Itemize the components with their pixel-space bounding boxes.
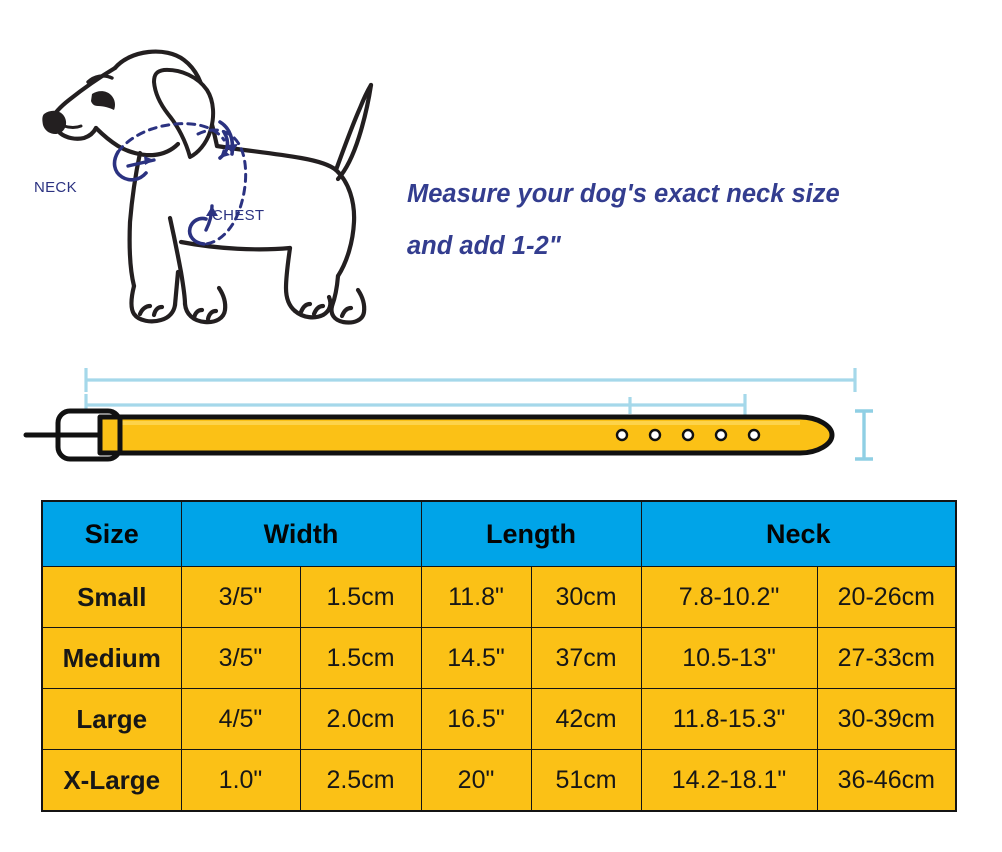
- dog-measurement-diagram: NECK CHEST: [18, 22, 408, 332]
- width-measure-bracket: [855, 411, 873, 459]
- cell-neck-in: 11.8-15.3": [641, 689, 817, 750]
- cell-neck-cm: 36-46cm: [817, 750, 956, 812]
- cell-size: Medium: [42, 628, 181, 689]
- neck-measure-line: [86, 394, 745, 417]
- cell-width-in: 3/5": [181, 567, 300, 628]
- cell-size: Large: [42, 689, 181, 750]
- cell-length-cm: 37cm: [531, 628, 641, 689]
- cell-length-in: 20": [421, 750, 531, 812]
- collar-measurement-diagram: Length Neck Width: [0, 355, 1002, 480]
- cell-length-in: 14.5": [421, 628, 531, 689]
- table-header-row: Size Width Length Neck: [42, 501, 956, 567]
- measure-instruction-text: Measure your dog's exact neck size and a…: [407, 168, 967, 272]
- collar-hole: [650, 430, 660, 440]
- neck-arrow-head-icon: [144, 156, 154, 165]
- size-chart-table: Size Width Length Neck Small 3/5" 1.5cm …: [41, 500, 957, 812]
- neck-label: NECK: [34, 179, 77, 196]
- instruction-line-2: and add 1-2": [407, 220, 967, 272]
- chest-label: CHEST: [212, 207, 264, 224]
- cell-neck-in: 10.5-13": [641, 628, 817, 689]
- cell-neck-cm: 30-39cm: [817, 689, 956, 750]
- table-row: Small 3/5" 1.5cm 11.8" 30cm 7.8-10.2" 20…: [42, 567, 956, 628]
- column-header-size: Size: [42, 501, 181, 567]
- length-measure-line: [86, 368, 855, 392]
- cell-length-cm: 30cm: [531, 567, 641, 628]
- dog-mouth-icon: [64, 126, 81, 128]
- cell-width-cm: 1.5cm: [300, 628, 421, 689]
- cell-width-cm: 1.5cm: [300, 567, 421, 628]
- dog-outline-svg: [18, 22, 408, 332]
- cell-length-cm: 51cm: [531, 750, 641, 812]
- cell-length-in: 11.8": [421, 567, 531, 628]
- cell-width-in: 1.0": [181, 750, 300, 812]
- collar-hole: [749, 430, 759, 440]
- dog-ear-icon: [154, 70, 213, 157]
- cell-width-cm: 2.0cm: [300, 689, 421, 750]
- dog-eye-icon: [91, 91, 115, 110]
- cell-width-cm: 2.5cm: [300, 750, 421, 812]
- column-header-width: Width: [181, 501, 421, 567]
- collar-svg: [0, 355, 1002, 480]
- cell-neck-in: 14.2-18.1": [641, 750, 817, 812]
- dog-nose-icon: [42, 111, 66, 134]
- table-row: Medium 3/5" 1.5cm 14.5" 37cm 10.5-13" 27…: [42, 628, 956, 689]
- collar-buckle-strap-fold: [100, 417, 120, 453]
- collar-hole: [683, 430, 693, 440]
- cell-width-in: 3/5": [181, 628, 300, 689]
- chest-measure-loop: [190, 218, 206, 244]
- cell-length-cm: 42cm: [531, 689, 641, 750]
- column-header-length: Length: [421, 501, 641, 567]
- instruction-line-1: Measure your dog's exact neck size: [407, 168, 967, 220]
- column-header-neck: Neck: [641, 501, 956, 567]
- collar-hole: [716, 430, 726, 440]
- cell-neck-cm: 20-26cm: [817, 567, 956, 628]
- cell-neck-in: 7.8-10.2": [641, 567, 817, 628]
- collar-hole: [617, 430, 627, 440]
- cell-width-in: 4/5": [181, 689, 300, 750]
- cell-length-in: 16.5": [421, 689, 531, 750]
- cell-size: X-Large: [42, 750, 181, 812]
- table-row: Large 4/5" 2.0cm 16.5" 42cm 11.8-15.3" 3…: [42, 689, 956, 750]
- cell-neck-cm: 27-33cm: [817, 628, 956, 689]
- table-row: X-Large 1.0" 2.5cm 20" 51cm 14.2-18.1" 3…: [42, 750, 956, 812]
- cell-size: Small: [42, 567, 181, 628]
